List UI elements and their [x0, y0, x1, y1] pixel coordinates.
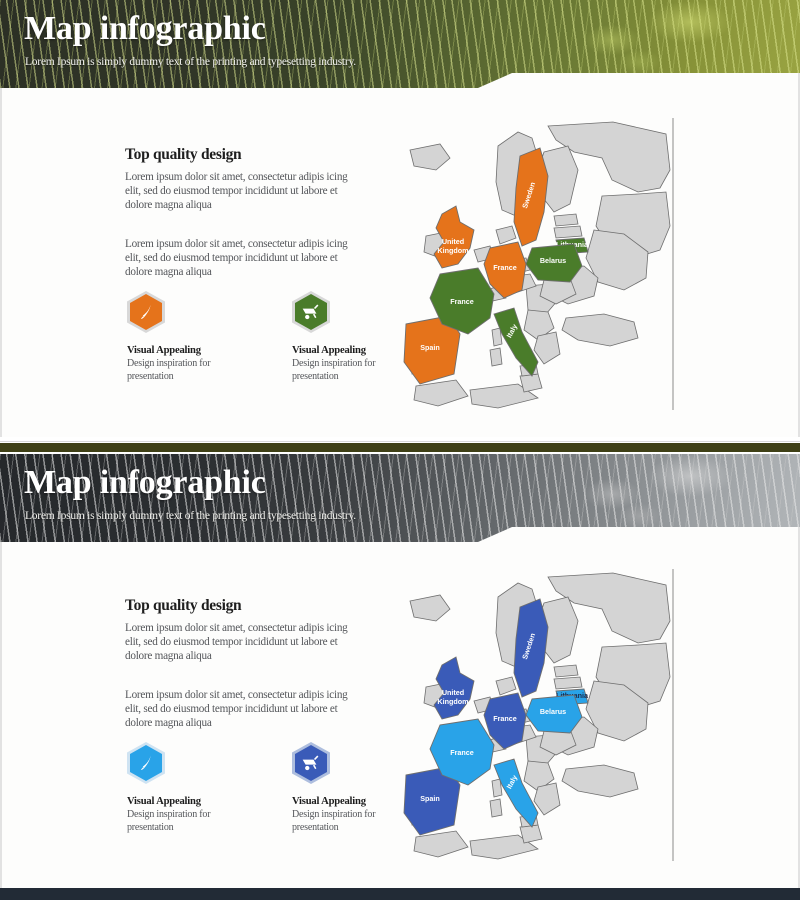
wheelbarrow-icon [300, 302, 322, 322]
map-country-base [496, 226, 516, 244]
feature-description: Design inspiration for presentation [292, 809, 407, 834]
map-country-base [410, 144, 450, 170]
pen-leaf-icon-hex[interactable] [127, 291, 165, 333]
map-country-label: Kingdom [437, 246, 468, 255]
map-country-base [490, 799, 502, 817]
map-country-label: Kingdom [437, 697, 468, 706]
europe-map-green[interactable]: SwedenUnitedKingdomFranceSpainLithuaniaB… [398, 118, 676, 410]
content-paragraph-1: Lorem ipsum dolor sit amet, consectetur … [125, 170, 357, 213]
content-paragraph-2: Lorem ipsum dolor sit amet, consectetur … [125, 237, 357, 280]
slide-green[interactable]: Map infographic Lorem Ipsum is simply du… [0, 0, 800, 437]
content-heading: Top quality design [125, 597, 357, 615]
map-country-base [554, 226, 582, 238]
features-green: Visual Appealing Design inspiration for … [127, 291, 407, 383]
wheelbarrow-icon-hex[interactable] [292, 291, 330, 333]
divider-hairline [0, 441, 800, 442]
map-country-label: Spain [420, 343, 440, 352]
content-heading: Top quality design [125, 146, 357, 164]
europe-map-svg[interactable]: SwedenUnitedKingdomFranceSpainLithuaniaB… [398, 118, 676, 410]
banner-title: Map infographic [24, 10, 266, 48]
map-country-base [554, 214, 578, 226]
feature-title: Visual Appealing [292, 796, 407, 807]
europe-map-blue[interactable]: SwedenUnitedKingdomFranceSpainLithuaniaB… [398, 569, 676, 861]
map-country-base [520, 825, 542, 843]
map-country-label: Belarus [540, 256, 566, 265]
map-country-label: France [493, 263, 517, 272]
content-block-green: Top quality design Lorem ipsum dolor sit… [125, 146, 357, 279]
feature-card[interactable]: Visual Appealing Design inspiration for … [292, 291, 407, 383]
content-paragraph-1: Lorem ipsum dolor sit amet, consectetur … [125, 621, 357, 664]
map-country-label: United [442, 237, 464, 246]
map-country-base [562, 314, 638, 346]
europe-map-svg[interactable]: SwedenUnitedKingdomFranceSpainLithuaniaB… [398, 569, 676, 861]
feature-description: Design inspiration for presentation [292, 358, 407, 383]
feature-description: Design inspiration for presentation [127, 809, 242, 834]
banner-gray: Map infographic Lorem Ipsum is simply du… [0, 454, 800, 542]
feature-card[interactable]: Visual Appealing Design inspiration for … [292, 742, 407, 834]
feature-description: Design inspiration for presentation [127, 358, 242, 383]
feature-title: Visual Appealing [127, 345, 242, 356]
feature-title: Visual Appealing [127, 796, 242, 807]
map-country-base [534, 783, 560, 815]
pen-leaf-icon [136, 753, 156, 773]
feature-card[interactable]: Visual Appealing Design inspiration for … [127, 291, 242, 383]
feature-title: Visual Appealing [292, 345, 407, 356]
map-country-base [414, 831, 468, 857]
map-country-base [554, 665, 578, 677]
banner-green: Map infographic Lorem Ipsum is simply du… [0, 0, 800, 88]
footer-bar [0, 888, 800, 900]
pen-leaf-icon [136, 302, 156, 322]
feature-card[interactable]: Visual Appealing Design inspiration for … [127, 742, 242, 834]
banner-subtitle: Lorem Ipsum is simply dummy text of the … [25, 510, 356, 522]
presentation-page: Map infographic Lorem Ipsum is simply du… [0, 0, 800, 900]
banner-subtitle: Lorem Ipsum is simply dummy text of the … [25, 56, 356, 68]
slide-blue[interactable]: Map infographic Lorem Ipsum is simply du… [0, 454, 800, 888]
map-country-base [534, 332, 560, 364]
map-country-base [562, 765, 638, 797]
map-country-label: France [450, 748, 474, 757]
map-country-label: France [450, 297, 474, 306]
map-country-base [554, 677, 582, 689]
content-paragraph-2: Lorem ipsum dolor sit amet, consectetur … [125, 688, 357, 731]
map-country-label: Spain [420, 794, 440, 803]
map-country-base [496, 677, 516, 695]
map-country-label: United [442, 688, 464, 697]
olive-divider-bar [0, 443, 800, 452]
map-country-label: Belarus [540, 707, 566, 716]
wheelbarrow-icon-hex[interactable] [292, 742, 330, 784]
map-country-label: France [493, 714, 517, 723]
wheelbarrow-icon [300, 753, 322, 773]
map-country-base [410, 595, 450, 621]
banner-title: Map infographic [24, 464, 266, 502]
map-country-base [490, 348, 502, 366]
pen-leaf-icon-hex[interactable] [127, 742, 165, 784]
content-block-blue: Top quality design Lorem ipsum dolor sit… [125, 597, 357, 730]
map-country-base [414, 380, 468, 406]
map-country-base [520, 374, 542, 392]
features-blue: Visual Appealing Design inspiration for … [127, 742, 407, 834]
